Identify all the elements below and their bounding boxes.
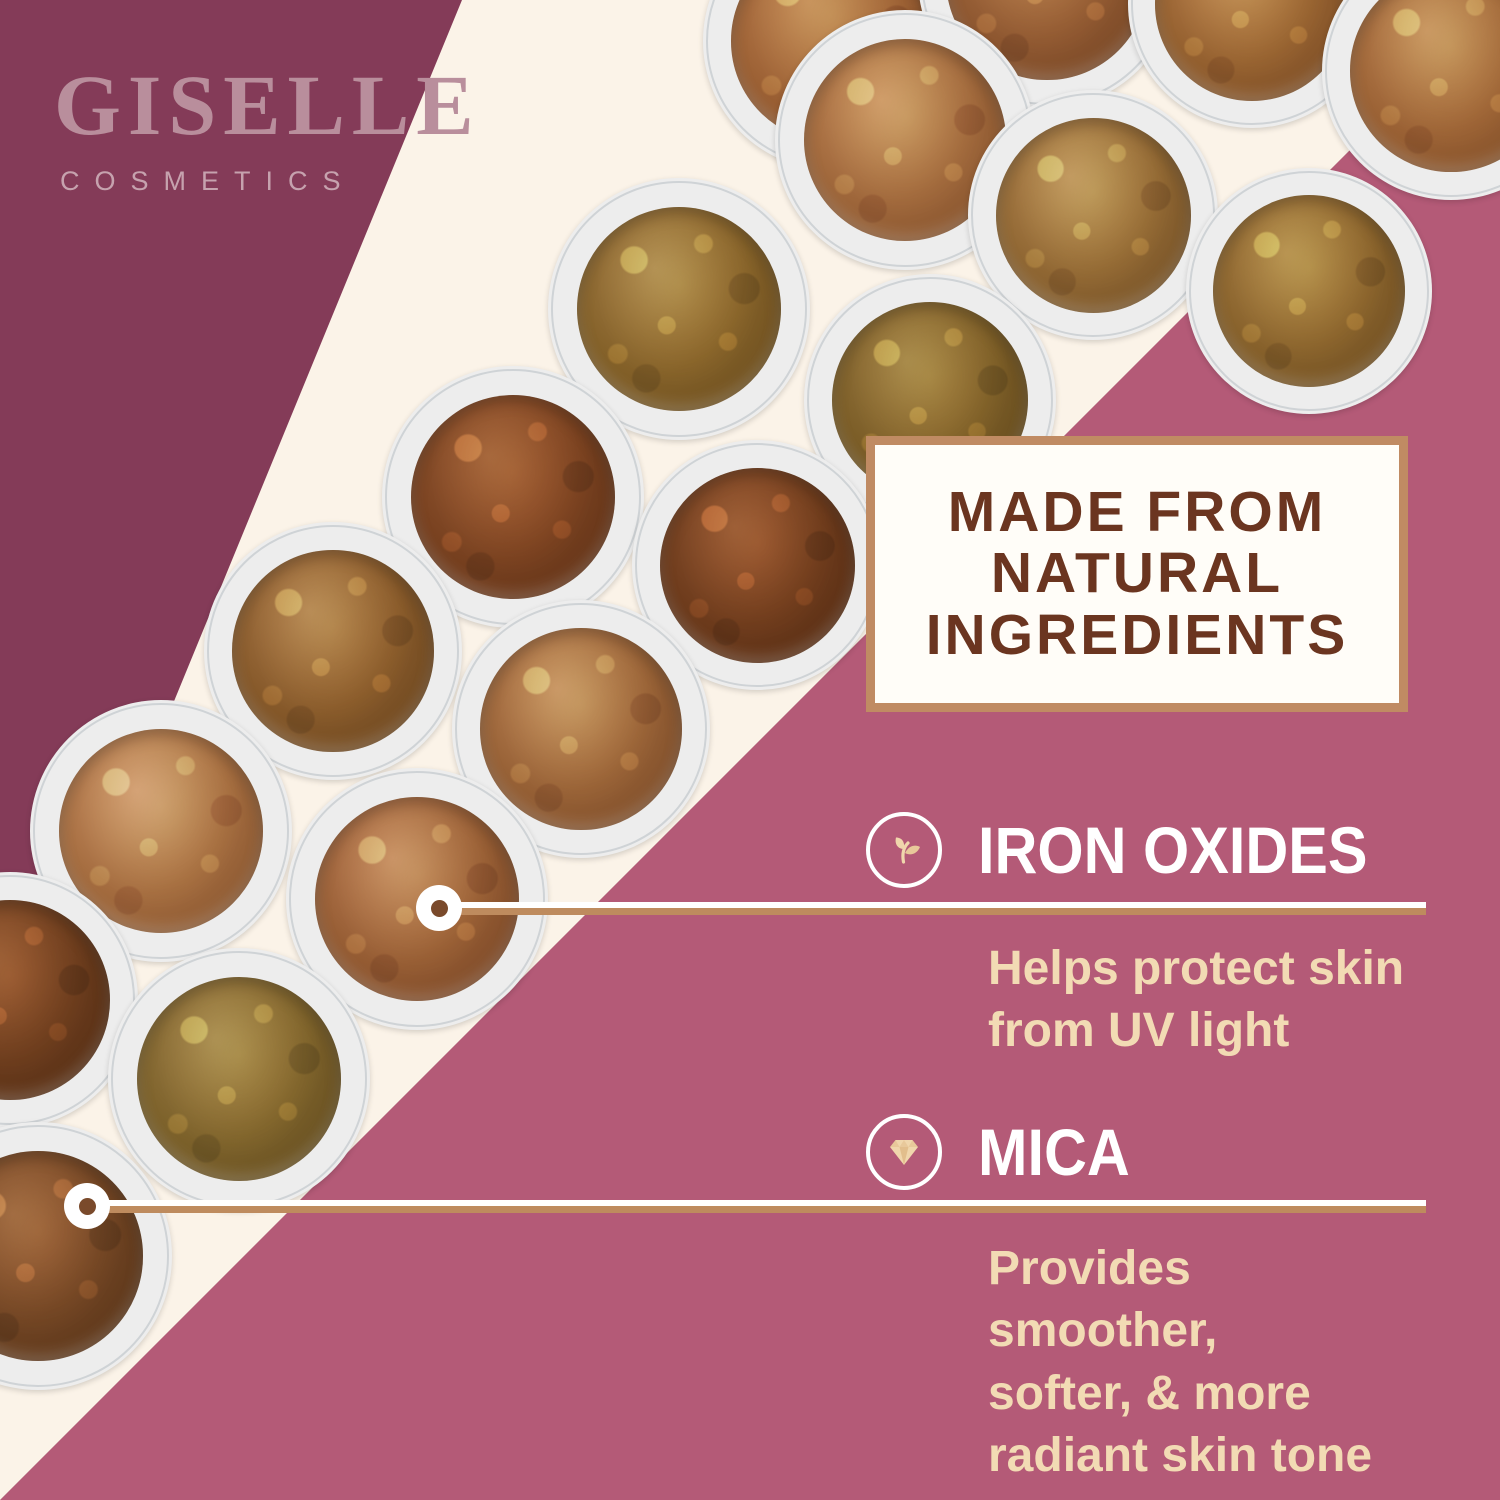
connector-rule-mica [86,1200,1426,1210]
connector-rule-bronze [438,908,1426,915]
powder-shimmer-overlay [411,395,615,599]
ingredient-block-mica: MICA [866,1114,1147,1190]
powder-shimmer-overlay [1155,0,1348,101]
ingredient-header: IRON OXIDES [866,812,1411,888]
powder-shimmer-overlay [480,628,681,829]
powder-shimmer-overlay [1350,0,1500,172]
powder-shimmer-overlay [137,977,341,1181]
product-jar [1186,168,1432,414]
leaf-sprout-icon [866,812,942,888]
brand-logo: GISELLE COSMETICS [54,62,481,197]
diamond-gem-icon [866,1114,942,1190]
powder-shimmer-overlay [660,468,855,663]
ingredient-description: Provides smoother, softer, & more radian… [988,1238,1428,1488]
headline-text: MADE FROM NATURAL INGREDIENTS [875,482,1399,667]
infographic-canvas: GISELLE COSMETICS MADE FROM NATURAL INGR… [0,0,1500,1500]
connector-node-iron-oxides [416,885,462,931]
powder-shimmer-overlay [0,1151,143,1360]
product-jar [108,948,370,1210]
connector-rule-iron-oxides [438,902,1426,912]
ingredient-block-iron-oxides: IRON OXIDES [866,812,1411,888]
connector-node-mica [64,1183,110,1229]
brand-tagline: COSMETICS [60,166,481,197]
powder-shimmer-overlay [1213,195,1405,387]
ingredient-header: MICA [866,1114,1147,1190]
powder-shimmer-overlay [996,118,1191,313]
powder-shimmer-overlay [0,900,110,1100]
brand-name: GISELLE [54,62,481,148]
powder-shimmer-overlay [577,207,781,411]
powder-shimmer-overlay [232,550,433,751]
headline-box: MADE FROM NATURAL INGREDIENTS [866,436,1408,712]
ingredient-title: IRON OXIDES [978,817,1367,883]
ingredient-description: Helps protect skin from UV light [988,938,1418,1063]
connector-rule-bronze [86,1206,1426,1213]
ingredient-title: MICA [978,1119,1130,1185]
product-jar [1322,0,1500,200]
